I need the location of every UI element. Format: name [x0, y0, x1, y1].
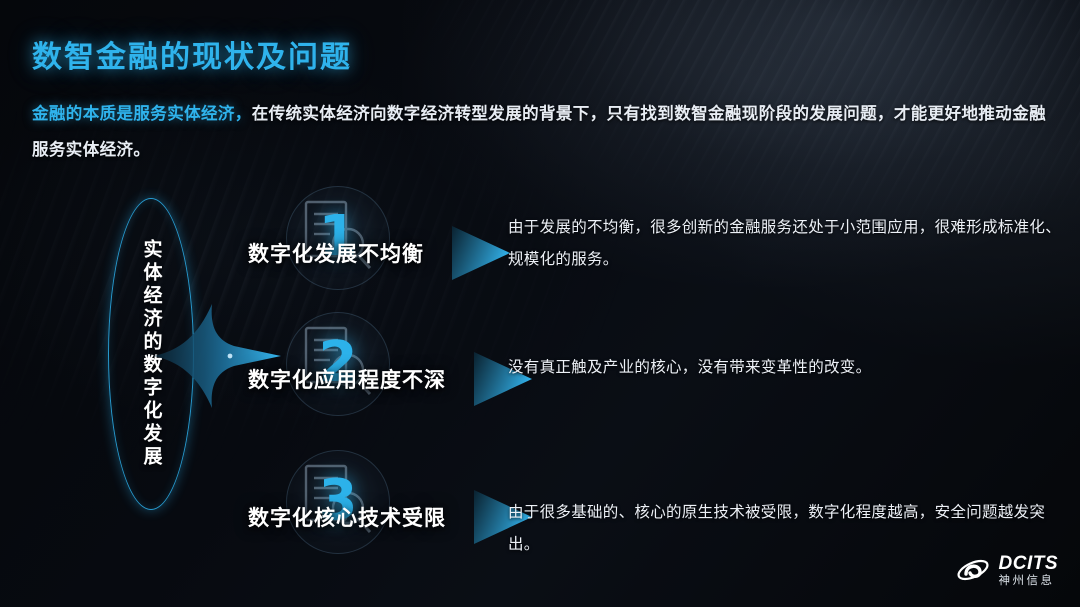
company-logo: DCITS 神州信息: [956, 554, 1059, 588]
vertical-axis-label: 实体经济的数字化发展: [108, 198, 194, 510]
dcits-swirl-icon: [956, 555, 990, 585]
item-label: 数字化应用程度不深: [248, 364, 446, 394]
subtitle-paragraph: 金融的本质是服务实体经济，在传统实体经济向数字经济转型发展的背景下，只有找到数智…: [32, 96, 1048, 168]
logo-name-cn: 神州信息: [999, 576, 1059, 588]
item-label: 数字化核心技术受限: [248, 502, 446, 532]
logo-name: DCITS: [999, 554, 1059, 573]
page-title: 数智金融的现状及问题: [32, 32, 352, 76]
subtitle-highlight: 金融的本质是服务实体经济，: [32, 105, 252, 123]
slide-root: 数智金融的现状及问题 金融的本质是服务实体经济，在传统实体经济向数字经济转型发展…: [0, 0, 1080, 607]
item-label: 数字化发展不均衡: [248, 238, 424, 268]
item-description: 由于很多基础的、核心的原生技术被受限，数字化程度越高，安全问题越发突出。: [508, 497, 1064, 561]
item-description: 由于发展的不均衡，很多创新的金融服务还处于小范围应用，很难形成标准化、规模化的服…: [508, 212, 1064, 276]
vertical-axis-ellipse: 实体经济的数字化发展: [108, 198, 194, 510]
logo-text: DCITS 神州信息: [999, 554, 1059, 588]
item-description: 没有真正触及产业的核心，没有带来变革性的改变。: [508, 352, 1064, 384]
